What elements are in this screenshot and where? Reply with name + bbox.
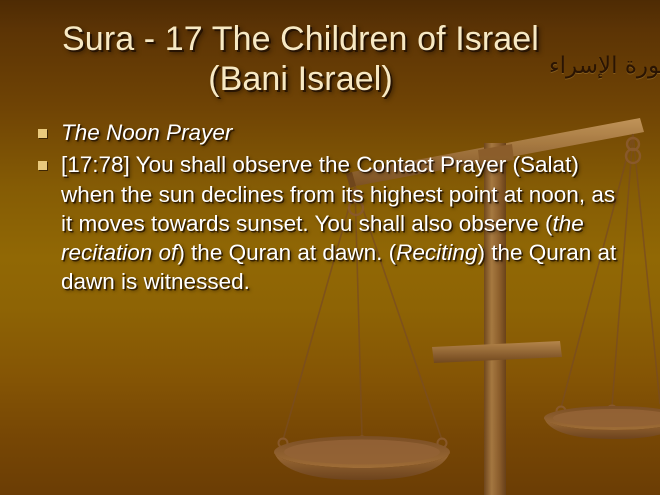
bullet-text-heading: The Noon Prayer (61, 118, 626, 147)
list-item: [17:78] You shall observe the Contact Pr… (26, 150, 626, 296)
title-line-1: Sura - 17 The Children of Israel (28, 20, 573, 60)
slide-body: The Noon Prayer [17:78] You shall observ… (26, 118, 626, 300)
bullet-text-verse: [17:78] You shall observe the Contact Pr… (61, 150, 626, 296)
list-item: The Noon Prayer (26, 118, 626, 147)
verse-segment: ) the Quran at dawn. ( (177, 240, 396, 265)
square-bullet-icon (38, 129, 47, 138)
slide-title: Sura - 17 The Children of Israel (Bani I… (28, 20, 573, 100)
verse-segment: [17:78] You shall observe the Contact Pr… (61, 152, 615, 236)
verse-italic-segment: Reciting (396, 240, 477, 265)
arabic-calligraphy-icon: سورة الإسراء (580, 40, 648, 92)
title-line-2: (Bani Israel) (28, 60, 573, 100)
square-bullet-icon (38, 161, 47, 170)
presentation-slide: سورة الإسراء Sura - 17 The Children of I… (0, 0, 660, 495)
